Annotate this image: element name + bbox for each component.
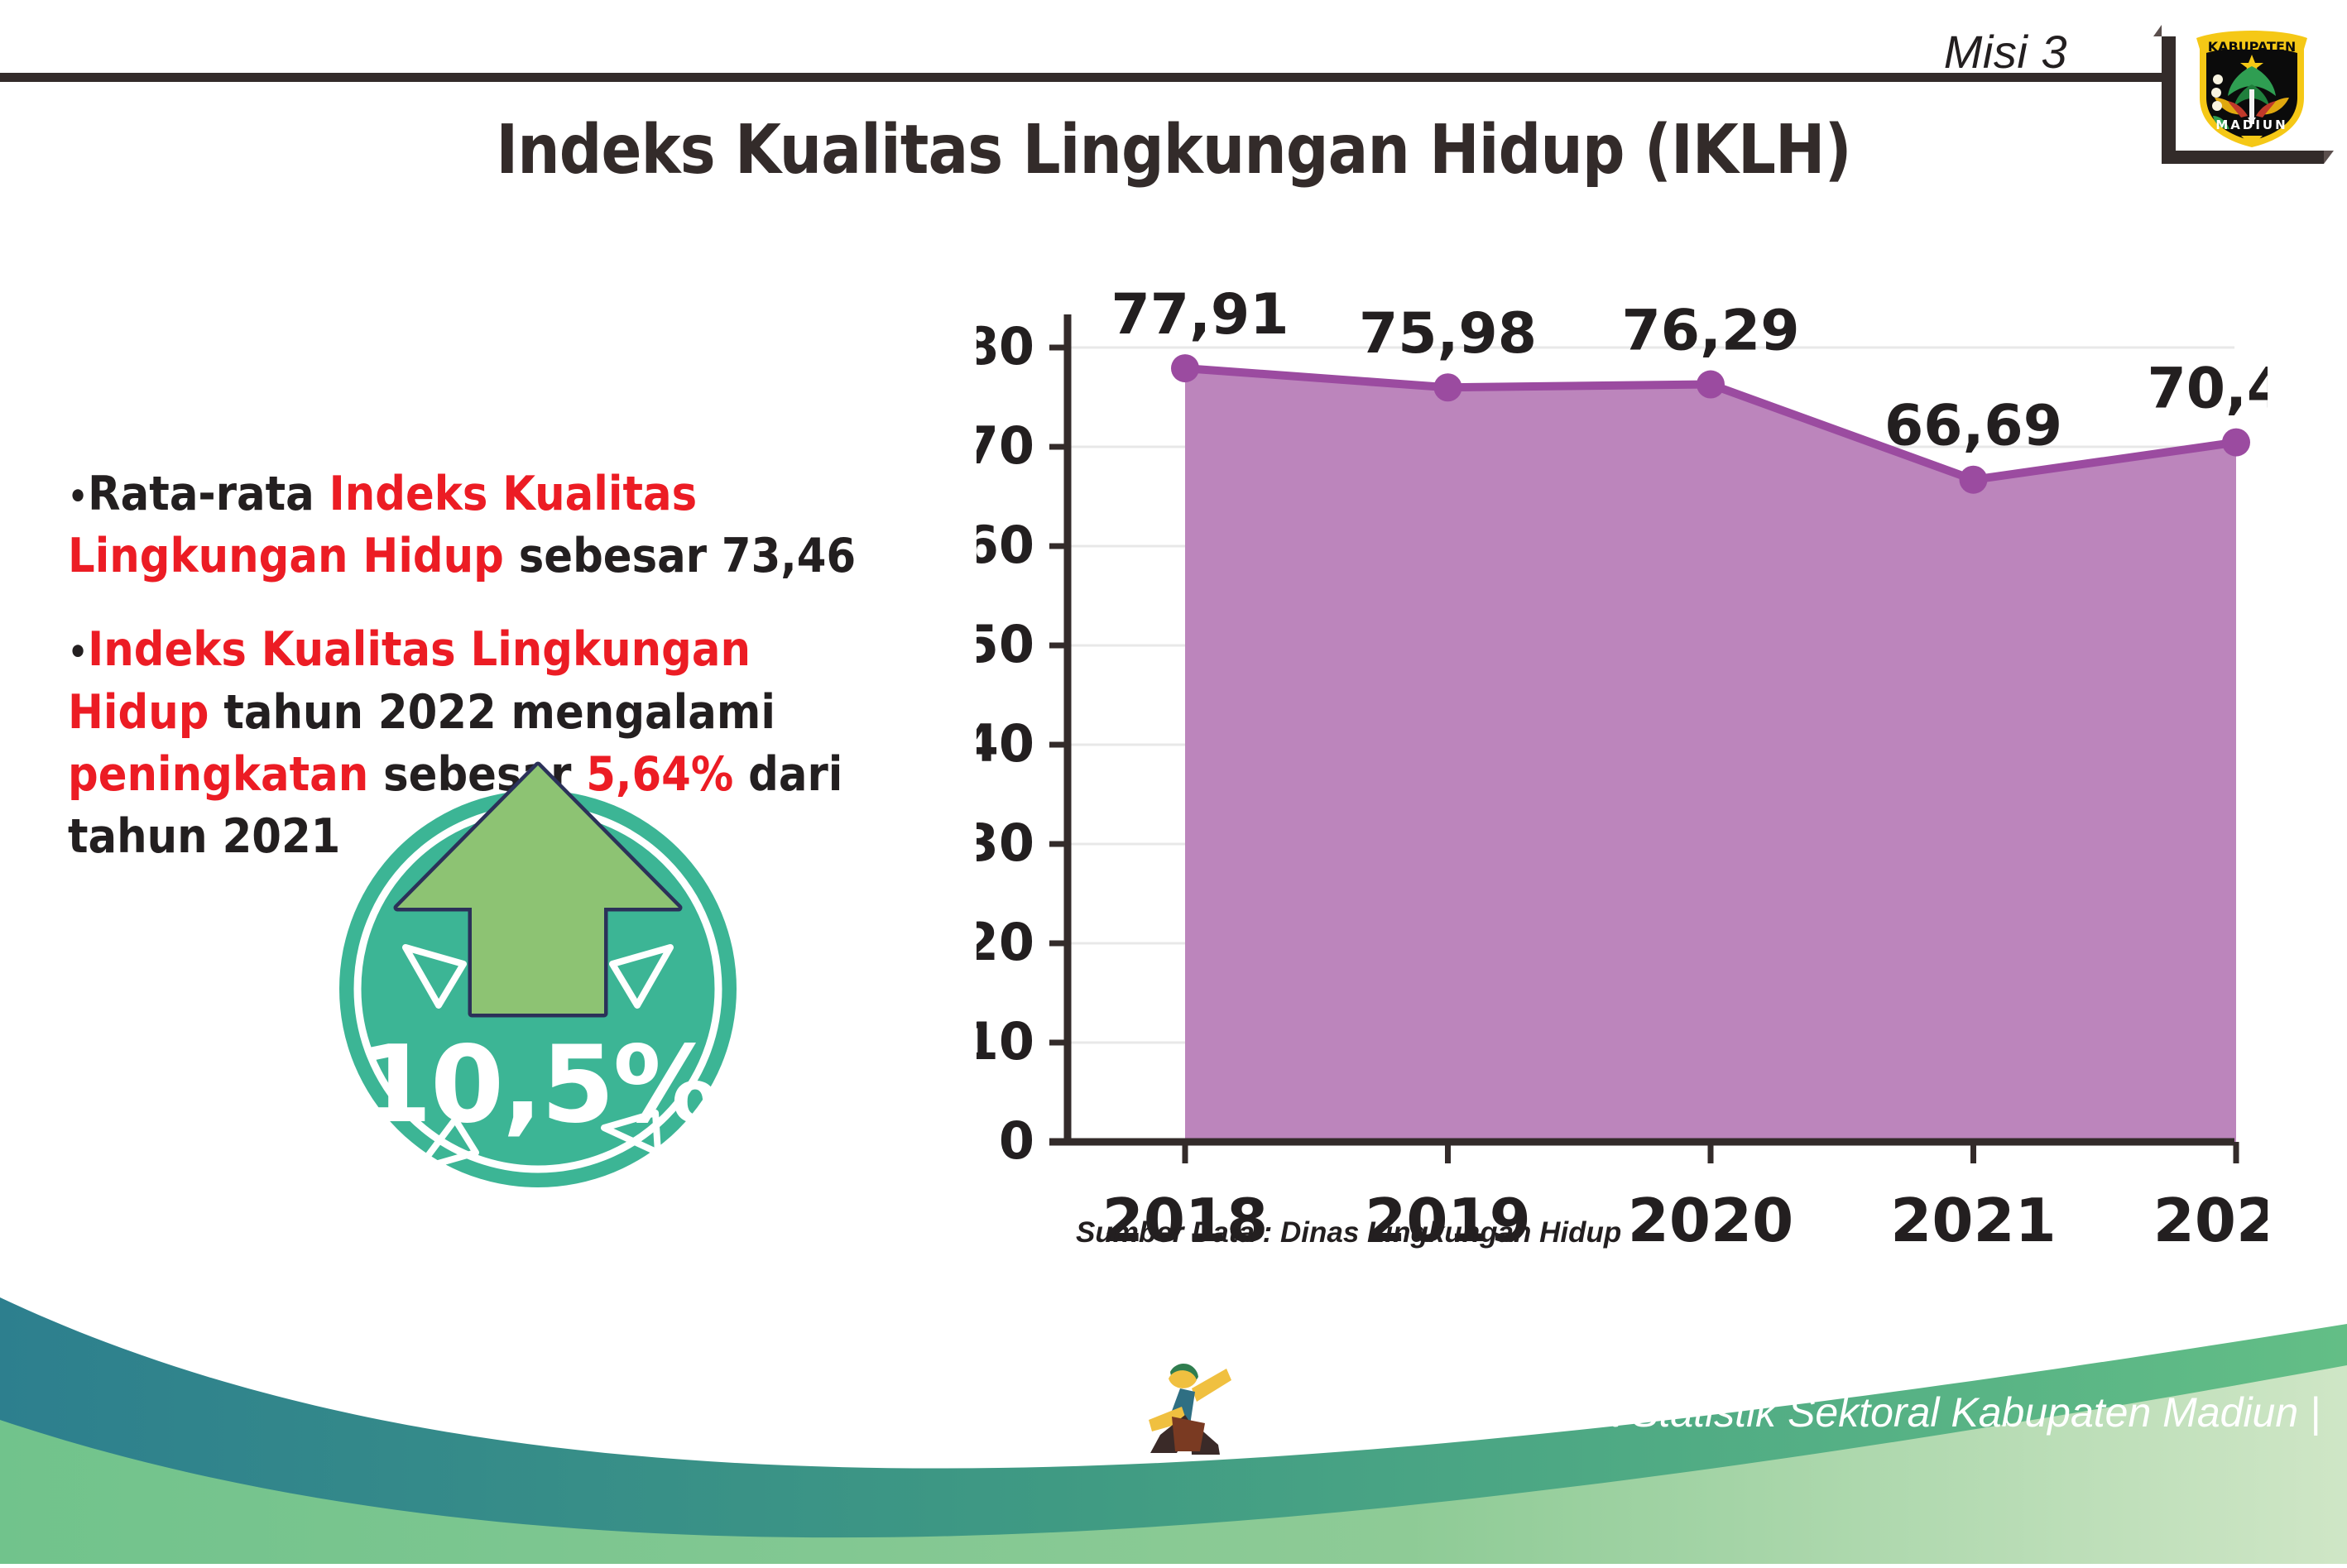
y-tick-label: 20 <box>977 912 1034 972</box>
mission-label: Misi 3 <box>1944 25 2067 79</box>
body-text: tahun 2022 mengalami <box>209 685 775 740</box>
kabupaten-madiun-logo: KABUPATEN MADIUN <box>2190 18 2314 149</box>
data-point <box>1434 373 1462 401</box>
data-point <box>1697 371 1725 399</box>
body-text: sebesar 73,46 <box>504 529 856 583</box>
source-note: Sumber Data : Dinas Lingkungan Hidup <box>1076 1216 1621 1249</box>
y-tick-label: 50 <box>977 614 1034 674</box>
y-tick-label: 0 <box>999 1110 1034 1171</box>
dancer-statue-icon <box>1144 1355 1235 1463</box>
y-tick-label: 40 <box>977 713 1034 774</box>
badge-value: 10,5% <box>331 1024 745 1147</box>
data-label: 76,29 <box>1621 299 1799 364</box>
body-text: Rata-rata <box>88 467 329 521</box>
increase-badge: 10,5% <box>331 757 745 1196</box>
data-label: 66,69 <box>1884 394 2062 459</box>
x-tick-label: 2021 <box>1890 1186 2056 1255</box>
y-tick-label: 10 <box>977 1011 1034 1072</box>
page-title: Indeks Kualitas Lingkungan Hidup (IKLH) <box>141 111 2206 189</box>
y-tick-label: 30 <box>977 813 1034 873</box>
svg-text:MADIUN: MADIUN <box>2215 117 2287 132</box>
y-tick-label: 80 <box>977 316 1034 376</box>
data-point <box>2222 429 2250 457</box>
iklh-area-chart: 01020304050607080201877,91201975,9820207… <box>977 273 2268 1283</box>
data-label: 70,45 <box>2147 357 2268 422</box>
bullet-marker: • <box>68 476 88 516</box>
list-item: •Rata-rata Indeks Kualitas Lingkungan Hi… <box>68 463 902 587</box>
slide-canvas: Misi 3 KABUPATEN MADIUN Indeks Kualitas … <box>0 0 2347 1564</box>
y-tick-label: 70 <box>977 415 1034 476</box>
x-tick-label: 2020 <box>1628 1186 1793 1255</box>
highlight-text: peningkatan <box>68 747 368 802</box>
data-label: 75,98 <box>1359 301 1537 367</box>
svg-text:KABUPATEN: KABUPATEN <box>2208 39 2297 55</box>
bullet-marker: • <box>68 631 88 672</box>
data-point <box>1171 354 1199 382</box>
footer-band: Media Infografis Data Statistik Sektoral… <box>0 1258 2347 1564</box>
footer-caption: Media Infografis Data Statistik Sektoral… <box>1226 1388 2321 1436</box>
data-point <box>1960 466 1988 494</box>
data-label: 77,91 <box>1111 282 1289 348</box>
y-tick-label: 60 <box>977 515 1034 575</box>
header-rule <box>0 73 2168 82</box>
area-fill <box>1185 368 2236 1142</box>
x-tick-label: 2022 <box>2153 1186 2268 1255</box>
